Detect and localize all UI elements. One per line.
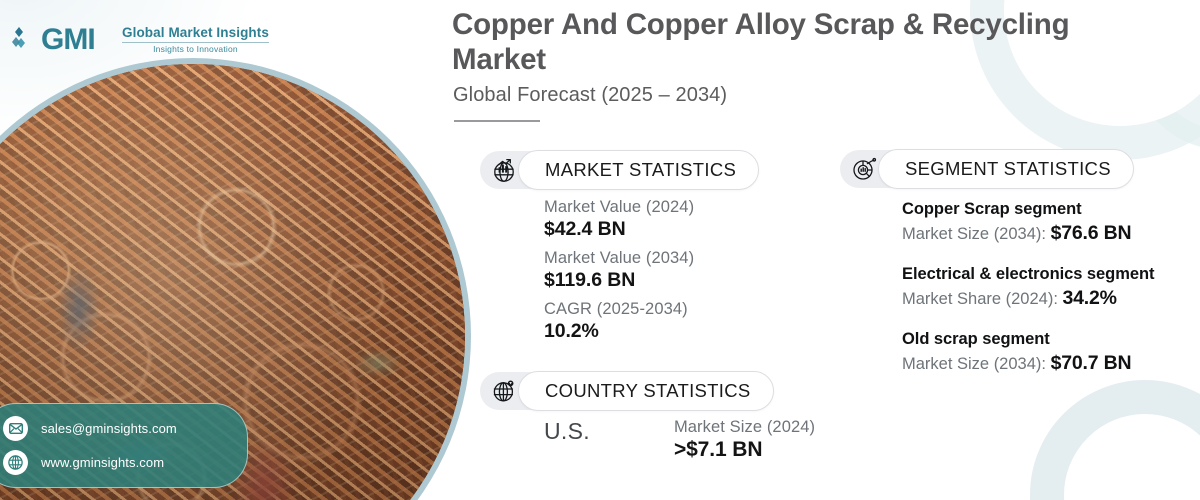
country-statistics-list: U.S. Market Size (2024) >$7.1 BN xyxy=(544,418,815,462)
segment-statistics-label: SEGMENT STATISTICS xyxy=(878,149,1134,189)
segment-metric-value: $76.6 BN xyxy=(1051,222,1132,244)
stat-value: 10.2% xyxy=(544,320,694,343)
stat-item: Market Value (2034) $119.6 BN xyxy=(544,249,694,292)
segment-item: Old scrap segment Market Size (2034): $7… xyxy=(902,330,1154,375)
stat-item: Market Value (2024) $42.4 BN xyxy=(544,198,694,241)
segment-metric-value: 34.2% xyxy=(1063,287,1117,309)
contact-website-text: www.gminsights.com xyxy=(41,455,164,470)
stat-label: CAGR (2025-2034) xyxy=(544,300,694,319)
segment-name: Old scrap segment xyxy=(902,330,1154,349)
market-statistics-header: MARKET STATISTICS xyxy=(480,150,759,190)
page-subtitle: Global Forecast (2025 – 2034) xyxy=(453,84,727,107)
stat-value: $119.6 BN xyxy=(544,269,694,292)
gmi-wordmark: GMI xyxy=(41,22,113,56)
segment-name: Electrical & electronics segment xyxy=(902,265,1154,284)
contact-panel: sales@gminsights.com www.gminsights.com xyxy=(0,403,248,488)
page-title: Copper And Copper Alloy Scrap & Recyclin… xyxy=(452,8,1124,77)
stat-value: $42.4 BN xyxy=(544,218,694,241)
brand-logo: GMI Global Market Insights Insights to I… xyxy=(12,22,269,56)
content-area: Copper And Copper Alloy Scrap & Recyclin… xyxy=(452,0,1200,500)
country-metric: Market Size (2024) >$7.1 BN xyxy=(674,418,815,462)
stat-label: Market Value (2024) xyxy=(544,198,694,217)
segment-metric-label: Market Size (2034): xyxy=(902,225,1046,243)
market-statistics-label: MARKET STATISTICS xyxy=(518,150,759,190)
segment-metric: Market Size (2034): $70.7 BN xyxy=(902,352,1154,375)
infographic-canvas: GMI Global Market Insights Insights to I… xyxy=(0,0,1200,500)
segment-metric-label: Market Share (2024): xyxy=(902,290,1058,308)
contact-email-text: sales@gminsights.com xyxy=(41,421,177,436)
country-statistics-label: COUNTRY STATISTICS xyxy=(518,371,774,411)
contact-website-row[interactable]: www.gminsights.com xyxy=(3,450,231,475)
contact-email-row[interactable]: sales@gminsights.com xyxy=(3,416,231,441)
globe-icon xyxy=(3,450,28,475)
segment-name: Copper Scrap segment xyxy=(902,200,1154,219)
segment-item: Electrical & electronics segment Market … xyxy=(902,265,1154,310)
segment-item: Copper Scrap segment Market Size (2034):… xyxy=(902,200,1154,245)
segment-metric: Market Size (2034): $76.6 BN xyxy=(902,222,1154,245)
segment-metric-value: $70.7 BN xyxy=(1051,352,1132,374)
segment-statistics-list: Copper Scrap segment Market Size (2034):… xyxy=(902,200,1154,375)
segment-metric: Market Share (2024): 34.2% xyxy=(902,287,1154,310)
country-metric-label: Market Size (2024) xyxy=(674,418,815,437)
envelope-icon xyxy=(3,416,28,441)
segment-metric-label: Market Size (2034): xyxy=(902,355,1046,373)
country-name: U.S. xyxy=(544,418,590,445)
market-statistics-list: Market Value (2024) $42.4 BN Market Valu… xyxy=(544,198,694,343)
country-statistics-header: COUNTRY STATISTICS xyxy=(480,371,774,411)
brand-tagline: Insights to Innovation xyxy=(122,44,269,54)
title-divider xyxy=(454,120,540,122)
svg-text:GMI: GMI xyxy=(41,23,95,56)
brand-company-name: Global Market Insights xyxy=(122,25,269,40)
segment-statistics-header: SEGMENT STATISTICS xyxy=(840,149,1134,189)
stat-label: Market Value (2034) xyxy=(544,249,694,268)
stat-item: CAGR (2025-2034) 10.2% xyxy=(544,300,694,343)
country-metric-value: >$7.1 BN xyxy=(674,438,815,462)
gmi-diamond-logo-icon xyxy=(12,24,34,54)
